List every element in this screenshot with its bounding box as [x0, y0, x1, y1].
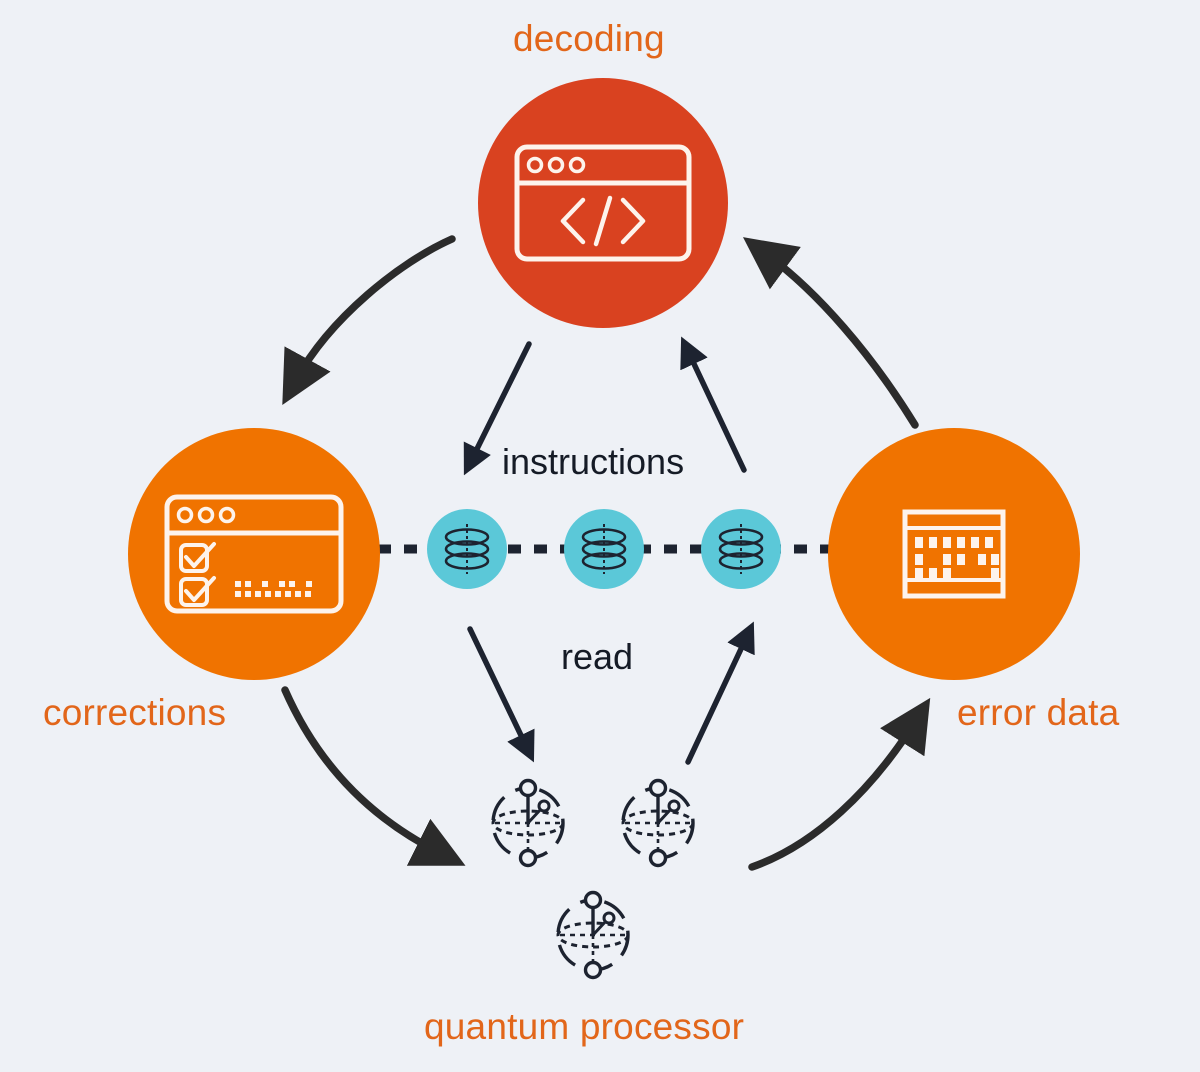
node-error-data[interactable] [828, 428, 1080, 680]
arrow-decoding-to-corrections [296, 239, 452, 380]
qubit-node-3[interactable] [701, 509, 781, 589]
arrow-corrections-to-processor [285, 690, 440, 853]
bloch-sphere-icon [548, 890, 638, 980]
qubit-node-2[interactable] [564, 509, 644, 589]
arrow-processor-to-qubits [688, 634, 748, 762]
arrow-qubits-to-decoding [687, 349, 744, 470]
arrow-qubits-to-processor [470, 629, 528, 750]
edge-label-read: read [561, 636, 633, 678]
arrow-errordata-to-decoding [766, 254, 915, 425]
checklist-window-icon [163, 493, 345, 615]
qubit-atom-icon [575, 520, 633, 578]
bloch-sphere-icon [483, 778, 573, 868]
label-decoding: decoding [513, 18, 665, 60]
node-decoding[interactable] [478, 78, 728, 328]
qubit-atom-icon [712, 520, 770, 578]
qubit-node-1[interactable] [427, 509, 507, 589]
code-window-icon [513, 143, 693, 263]
arrow-processor-to-errordata [752, 722, 915, 867]
data-grid-icon [902, 509, 1006, 599]
edge-label-instructions: instructions [502, 441, 684, 483]
label-corrections: corrections [43, 692, 226, 734]
bloch-sphere-icon [613, 778, 703, 868]
node-corrections[interactable] [128, 428, 380, 680]
label-quantum-processor: quantum processor [424, 1006, 744, 1048]
diagram-canvas: decoding [0, 0, 1200, 1072]
qubit-atom-icon [438, 520, 496, 578]
label-error-data: error data [957, 692, 1119, 734]
